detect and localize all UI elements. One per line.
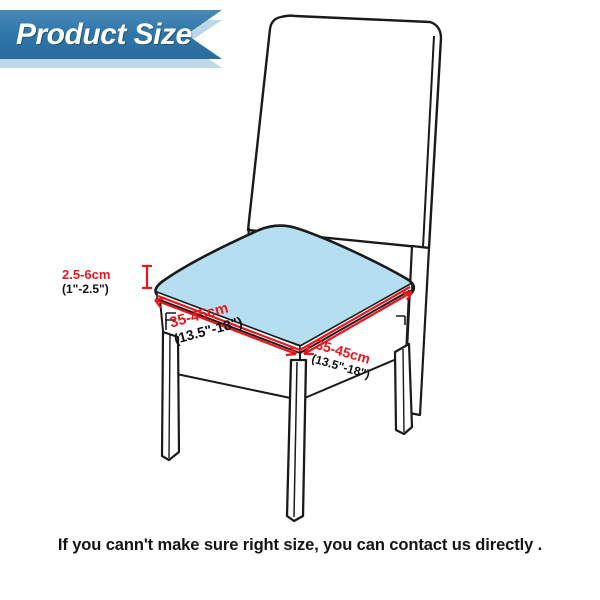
thickness-metric-value: 2.5-6cm bbox=[62, 268, 110, 283]
thickness-imperial-value: (1"-2.5") bbox=[62, 283, 110, 296]
dimension-label-thickness: 2.5-6cm (1"-2.5") bbox=[62, 268, 110, 296]
chair-diagram bbox=[0, 0, 600, 600]
product-size-infographic: Product Size bbox=[0, 0, 600, 600]
footer-caption: If you cann't make sure right size, you … bbox=[0, 536, 600, 555]
chair-leg-right-crease bbox=[403, 349, 404, 432]
chair-leg-left-crease bbox=[169, 334, 170, 458]
chair-back-panel bbox=[248, 16, 441, 248]
dimension-thickness bbox=[142, 266, 152, 288]
